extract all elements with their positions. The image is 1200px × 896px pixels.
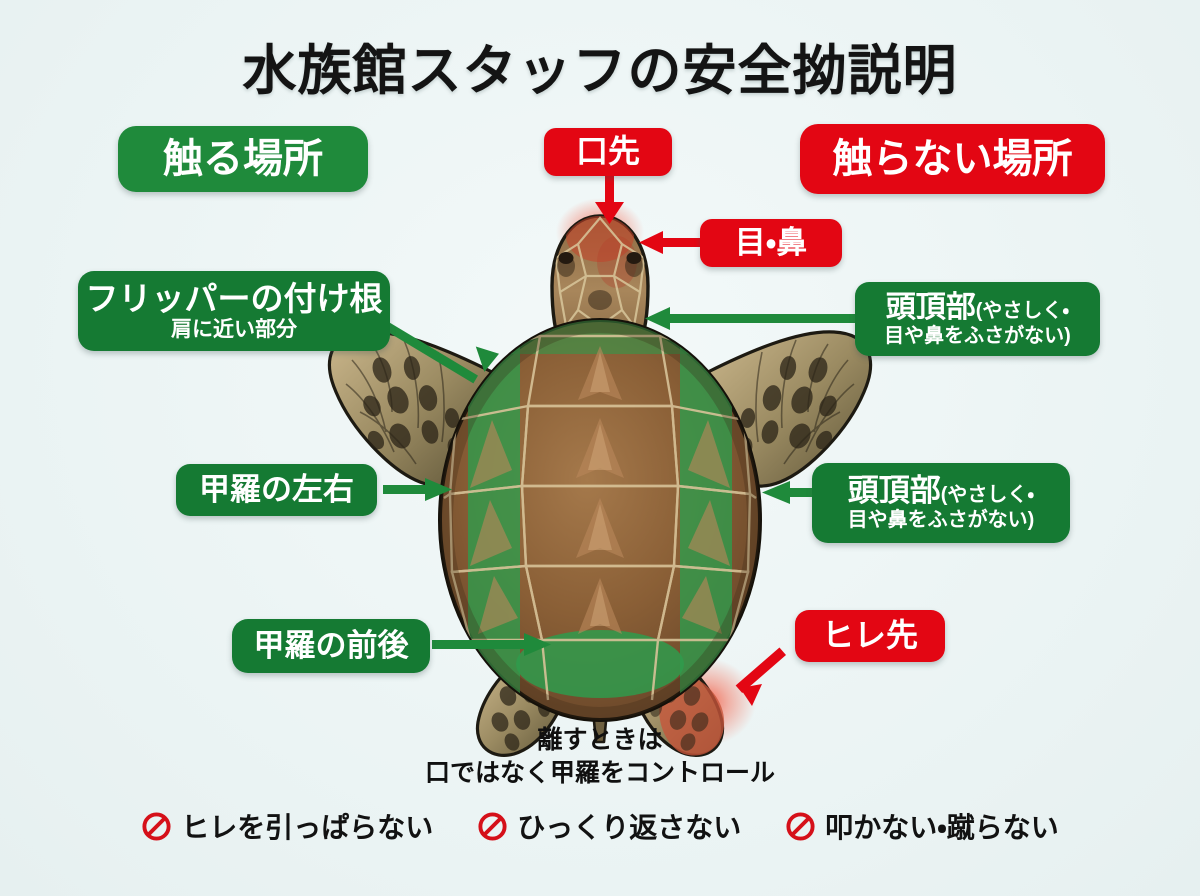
callout-eyes-nose: 目・鼻	[700, 219, 842, 267]
arrow-head-top-lower	[762, 481, 814, 504]
callout-head-top-lower-line2: 目や鼻をふさがない)	[848, 509, 1035, 531]
callout-flipper-base-main: フリッパーの付け根	[86, 281, 383, 318]
prohibition-item-2: 叩かない・蹴らない	[785, 806, 1059, 846]
callout-flipper-base: フリッパーの付け根 肩に近い部分	[78, 271, 390, 351]
arrow-mouth	[595, 176, 624, 224]
callout-shell-sides-label: 甲羅の左右	[199, 473, 354, 508]
prohibition-list: ヒレを引っぱらない ひっくり返さない 叩かない・蹴らない	[0, 806, 1200, 846]
prohibition-label-0: ヒレを引っぱらない	[181, 806, 433, 846]
no-entry-icon	[785, 811, 816, 842]
arrow-fin-tip	[736, 647, 786, 706]
release-caption-line1: 離すときは	[0, 724, 1200, 757]
callout-shell-sides: 甲羅の左右	[176, 464, 377, 516]
eye-right	[627, 252, 642, 264]
shell-right-safe-zone	[680, 320, 732, 720]
release-caption: 離すときは 口ではなく甲羅をコントロール	[0, 724, 1200, 790]
legend-touch-label: 触る場所	[163, 137, 323, 182]
arrow-head-top-upper	[645, 307, 856, 330]
turtle-shell	[440, 320, 760, 720]
turtle-head	[548, 210, 652, 386]
callout-mouth: 口先	[544, 128, 672, 176]
callout-head-top-upper-line2: 目や鼻をふさがない)	[884, 325, 1071, 347]
shell-front-safe-zone	[500, 320, 700, 354]
callout-eyes-nose-label: 目・鼻	[735, 226, 808, 261]
poster-canvas: 水族館スタッフの安全拗説明 触る場所 触らない場所 口先 目・鼻 頭頂部(やさし…	[0, 0, 1200, 896]
callout-fin-tip-label: ヒレ先	[822, 618, 918, 654]
callout-mouth-label: 口先	[576, 134, 640, 170]
callout-head-top-upper: 頭頂部(やさしく・ 目や鼻をふさがない)	[855, 282, 1100, 356]
arrow-eyes-nose	[639, 231, 703, 254]
eye-left	[559, 252, 574, 264]
arrow-shell-front-back	[432, 633, 551, 656]
legend-no-touch-badge: 触らない場所	[800, 124, 1105, 194]
shell-left-safe-zone	[468, 320, 520, 720]
callout-head-top-lower-line1: 頭頂部(やさしく・	[848, 474, 1034, 509]
callout-fin-tip: ヒレ先	[795, 610, 945, 662]
legend-touch-badge: 触る場所	[118, 126, 368, 192]
legend-no-touch-label: 触らない場所	[833, 137, 1073, 182]
callout-shell-front-back-label: 甲羅の前後	[254, 629, 409, 664]
release-caption-line2: 口ではなく甲羅をコントロール	[0, 757, 1200, 790]
no-entry-icon	[141, 811, 172, 842]
callout-head-top-lower: 頭頂部(やさしく・ 目や鼻をふさがない)	[812, 463, 1070, 543]
callout-shell-front-back: 甲羅の前後	[232, 619, 430, 673]
prohibition-label-1: ひっくり返さない	[517, 806, 741, 846]
prohibition-label-2: 叩かない・蹴らない	[825, 806, 1059, 846]
neck-safe-glow	[548, 346, 652, 398]
front-left-flipper	[329, 332, 492, 486]
no-entry-icon	[477, 811, 508, 842]
page-title: 水族館スタッフの安全拗説明	[0, 26, 1200, 105]
callout-head-top-upper-line1: 頭頂部(やさしく・	[886, 291, 1069, 325]
shell-scutes	[444, 336, 756, 700]
arrow-shell-sides	[383, 478, 452, 501]
snout-danger-glow	[556, 198, 644, 266]
prohibition-item-0: ヒレを引っぱらない	[141, 806, 433, 846]
callout-flipper-base-sub: 肩に近い部分	[171, 318, 297, 342]
arrow-flipper-base	[377, 318, 499, 383]
prohibition-item-1: ひっくり返さない	[477, 806, 741, 846]
shell-rear-safe-zone	[516, 630, 684, 698]
